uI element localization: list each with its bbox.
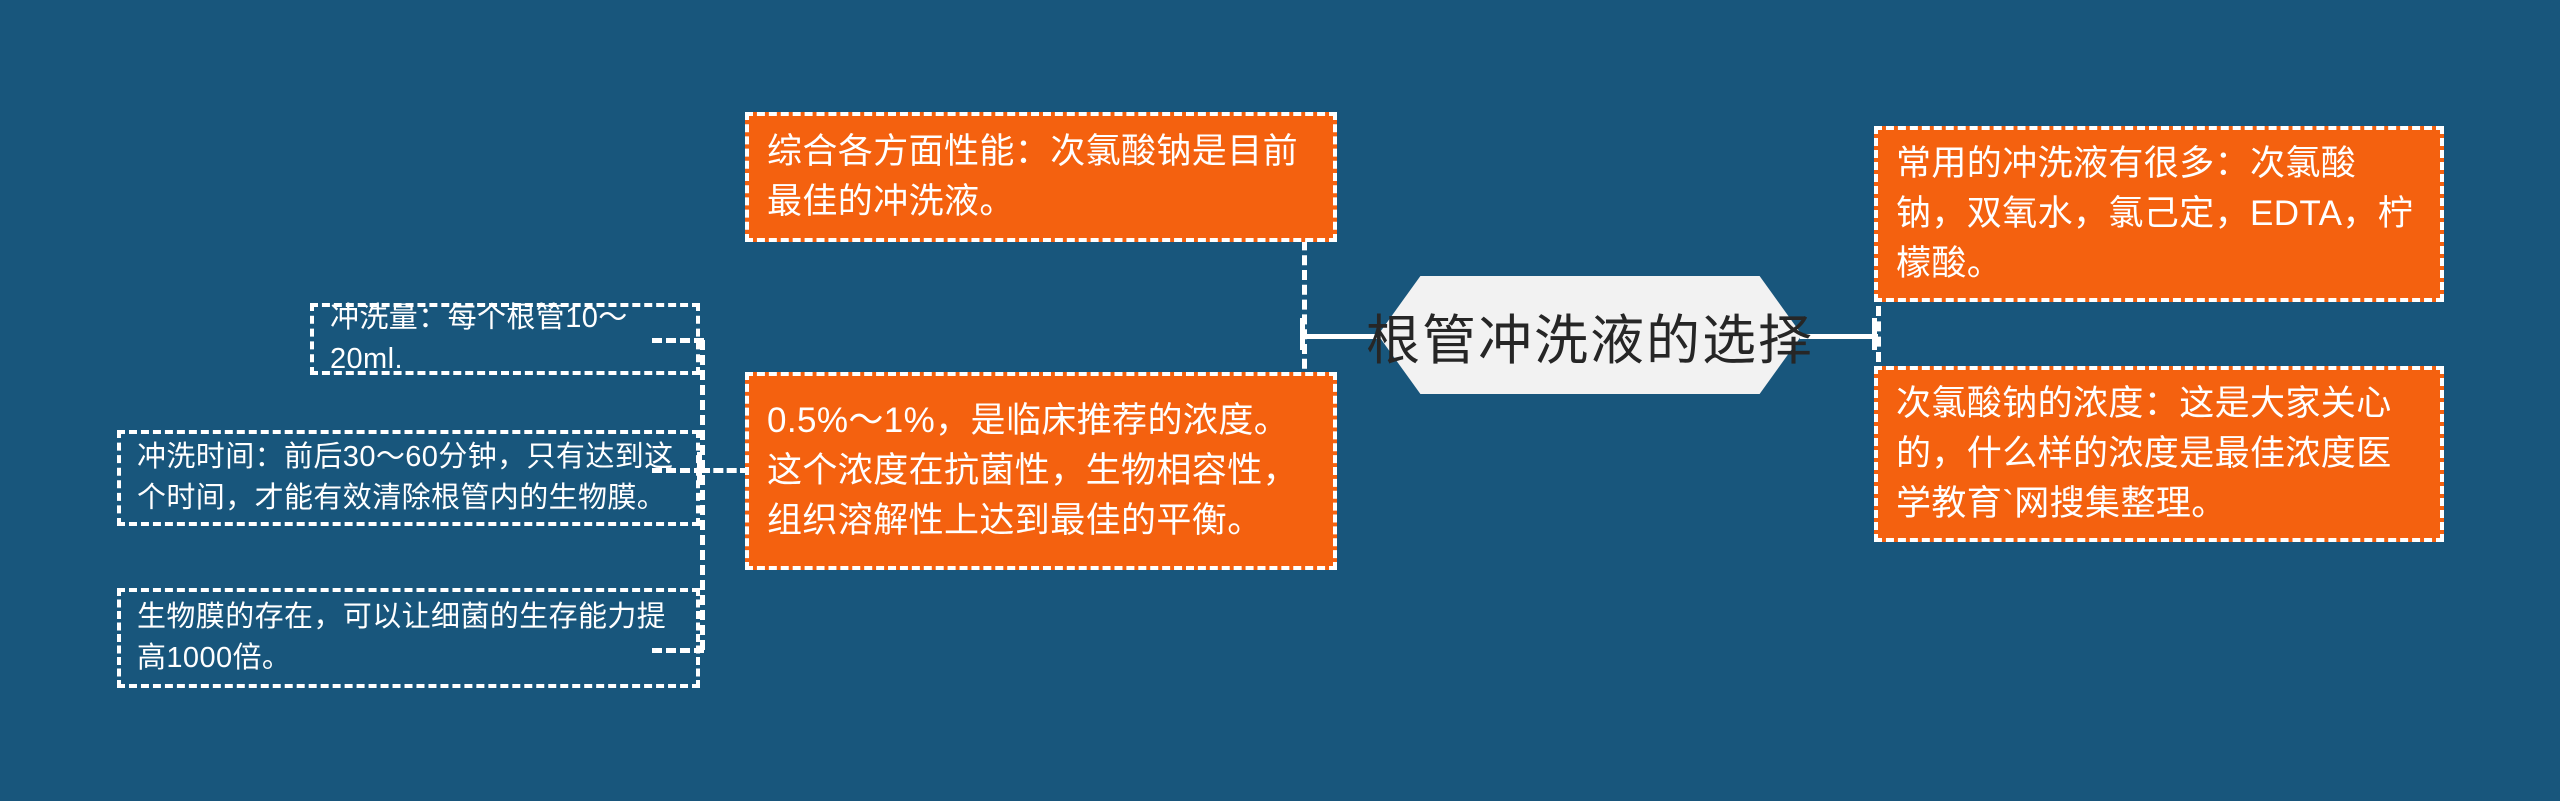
node-naocl-concentration-label: 次氯酸钠的浓度：这是大家关心的，什么样的浓度是最佳浓度医学教育`网搜集整理。 (1896, 379, 2424, 528)
connector-subbranch-entry (700, 468, 750, 473)
node-best-irrigant[interactable]: 综合各方面性能：次氯酸钠是目前最佳的冲洗液。 (745, 112, 1337, 242)
connector-subbranch-spine (700, 340, 705, 650)
connector-right-spine-cap (1872, 318, 1877, 350)
mindmap-canvas: 根管冲洗液的选择 综合各方面性能：次氯酸钠是目前最佳的冲洗液。 0.5%～1%，… (0, 0, 2560, 801)
node-irrigants-list-label: 常用的冲洗液有很多：次氯酸钠，双氧水，氯己定，EDTA，柠檬酸。 (1896, 139, 2424, 288)
node-biofilm-effect-label: 生物膜的存在，可以让细菌的生存能力提高1000倍。 (137, 597, 682, 679)
node-irrigation-time[interactable]: 冲洗时间：前后30～60分钟，只有达到这个时间，才能有效清除根管内的生物膜。 (117, 430, 700, 526)
node-recommended-concentration-label: 0.5%～1%，是临床推荐的浓度。这个浓度在抗菌性，生物相容性，组织溶解性上达到… (767, 396, 1317, 545)
node-irrigation-volume-label: 冲洗量：每个根管10～20ml. (330, 298, 682, 380)
center-node[interactable]: 根管冲洗液的选择 (1378, 276, 1802, 394)
center-node-label: 根管冲洗液的选择 (1366, 296, 1814, 375)
node-best-irrigant-label: 综合各方面性能：次氯酸钠是目前最佳的冲洗液。 (767, 127, 1317, 226)
connector-left-spine-cap (1300, 318, 1305, 350)
node-biofilm-effect[interactable]: 生物膜的存在，可以让细菌的生存能力提高1000倍。 (117, 588, 700, 688)
node-recommended-concentration[interactable]: 0.5%～1%，是临床推荐的浓度。这个浓度在抗菌性，生物相容性，组织溶解性上达到… (745, 372, 1337, 570)
node-naocl-concentration[interactable]: 次氯酸钠的浓度：这是大家关心的，什么样的浓度是最佳浓度医学教育`网搜集整理。 (1874, 366, 2444, 542)
node-irrigation-volume[interactable]: 冲洗量：每个根管10～20ml. (310, 303, 700, 375)
node-irrigants-list[interactable]: 常用的冲洗液有很多：次氯酸钠，双氧水，氯己定，EDTA，柠檬酸。 (1874, 126, 2444, 302)
node-irrigation-time-label: 冲洗时间：前后30～60分钟，只有达到这个时间，才能有效清除根管内的生物膜。 (137, 437, 682, 519)
